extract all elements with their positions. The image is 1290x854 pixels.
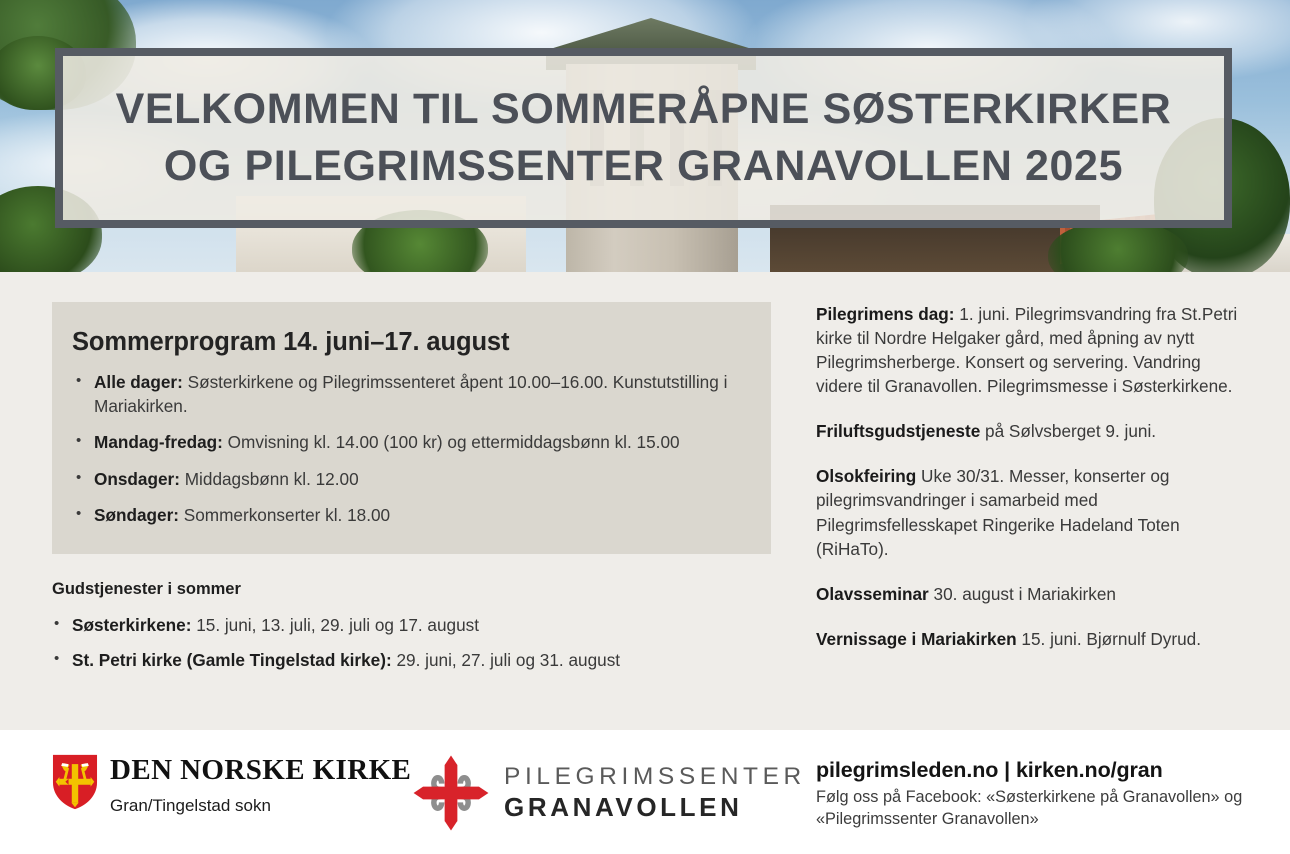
list-item: Søndager: Sommerkonserter kl. 18.00 (72, 504, 745, 528)
footer: DEN NORSKE KIRKE Gran/Tingelstad sokn (0, 730, 1290, 854)
pilegrimssenter-line-2: GRANAVOLLEN (504, 792, 806, 823)
summer-program-list: Alle dager: Søsterkirkene og Pilegrimsse… (72, 371, 745, 528)
pilegrimssenter-logo: PILEGRIMSSENTER GRANAVOLLEN (412, 754, 806, 832)
footer-links: pilegrimsleden.no | kirken.no/gran Følg … (816, 758, 1256, 831)
list-item-label: Søsterkirkene: (72, 615, 191, 635)
summer-program-title: Sommerprogram 14. juni–17. august (72, 328, 745, 357)
title-banner: VELKOMMEN TIL SOMMERÅPNE SØSTERKIRKER OG… (55, 48, 1232, 228)
list-item-text: 29. juni, 27. juli og 31. august (392, 650, 620, 670)
norwegian-church-shield-icon (52, 754, 98, 810)
event-entry: Olsokfeiring Uke 30/31. Messer, konserte… (816, 464, 1246, 560)
list-item-label: Mandag-fredag: (94, 432, 223, 452)
event-entry: Pilegrimens dag: 1. juni. Pilegrimsvandr… (816, 302, 1246, 398)
pilegrimssenter-text: PILEGRIMSSENTER GRANAVOLLEN (504, 763, 806, 823)
list-item-label: St. Petri kirke (Gamle Tingelstad kirke)… (72, 650, 392, 670)
list-item-text: Omvisning kl. 14.00 (100 kr) og ettermid… (223, 432, 680, 452)
list-item-label: Alle dager: (94, 372, 183, 392)
dnk-subtitle: Gran/Tingelstad sokn (110, 796, 411, 816)
list-item-text: Søsterkirkene og Pilegrimssenteret åpent… (94, 372, 727, 416)
summer-program-box: Sommerprogram 14. juni–17. august Alle d… (52, 302, 771, 554)
services-title: Gudstjenester i sommer (52, 580, 771, 599)
pilegrimssenter-line-1: PILEGRIMSSENTER (504, 763, 806, 792)
list-item-label: Søndager: (94, 505, 179, 525)
poster-root: VELKOMMEN TIL SOMMERÅPNE SØSTERKIRKER OG… (0, 0, 1290, 854)
list-item-text: 15. juni, 13. juli, 29. juli og 17. augu… (191, 615, 479, 635)
event-text: på Sølvsberget 9. juni. (980, 421, 1156, 441)
event-entry: Friluftsgudstjeneste på Sølvsberget 9. j… (816, 419, 1246, 443)
event-label: Olavsseminar (816, 584, 929, 604)
services-section: Gudstjenester i sommer Søsterkirkene: 15… (52, 580, 771, 672)
left-column: Sommerprogram 14. juni–17. august Alle d… (52, 302, 771, 683)
page-title: VELKOMMEN TIL SOMMERÅPNE SØSTERKIRKER OG… (63, 81, 1224, 195)
services-list: Søsterkirkene: 15. juni, 13. juli, 29. j… (52, 614, 771, 672)
list-item: Onsdager: Middagsbønn kl. 12.00 (72, 468, 745, 492)
list-item: Mandag-fredag: Omvisning kl. 14.00 (100 … (72, 431, 745, 455)
event-label: Vernissage i Mariakirken (816, 629, 1017, 649)
list-item: St. Petri kirke (Gamle Tingelstad kirke)… (52, 649, 771, 673)
right-column: Pilegrimens dag: 1. juni. Pilegrimsvandr… (816, 302, 1246, 651)
event-entry: Vernissage i Mariakirken 15. juni. Bjørn… (816, 627, 1246, 651)
list-item-label: Onsdager: (94, 469, 180, 489)
pilgrim-cross-icon (412, 754, 490, 832)
event-label: Friluftsgudstjeneste (816, 421, 980, 441)
website-links[interactable]: pilegrimsleden.no | kirken.no/gran (816, 758, 1256, 783)
event-entry: Olavsseminar 30. august i Mariakirken (816, 582, 1246, 606)
page-title-line-2: OG PILEGRIMSSENTER GRANAVOLLEN 2025 (89, 138, 1198, 195)
page-title-line-1: VELKOMMEN TIL SOMMERÅPNE SØSTERKIRKER (89, 81, 1198, 138)
den-norske-kirke-logo: DEN NORSKE KIRKE Gran/Tingelstad sokn (52, 754, 411, 816)
list-item-text: Sommerkonserter kl. 18.00 (179, 505, 390, 525)
list-item: Søsterkirkene: 15. juni, 13. juli, 29. j… (52, 614, 771, 638)
social-media-note: Følg oss på Facebook: «Søsterkirkene på … (816, 787, 1256, 831)
list-item-text: Middagsbønn kl. 12.00 (180, 469, 359, 489)
main-content: Sommerprogram 14. juni–17. august Alle d… (0, 272, 1290, 730)
event-label: Olsokfeiring (816, 466, 916, 486)
event-text: 30. august i Mariakirken (929, 584, 1116, 604)
hero-banner: VELKOMMEN TIL SOMMERÅPNE SØSTERKIRKER OG… (0, 0, 1290, 272)
list-item: Alle dager: Søsterkirkene og Pilegrimsse… (72, 371, 745, 418)
event-label: Pilegrimens dag: (816, 304, 955, 324)
dnk-title: DEN NORSKE KIRKE (110, 756, 411, 785)
den-norske-kirke-text: DEN NORSKE KIRKE Gran/Tingelstad sokn (110, 754, 411, 816)
event-text: 15. juni. Bjørnulf Dyrud. (1017, 629, 1201, 649)
